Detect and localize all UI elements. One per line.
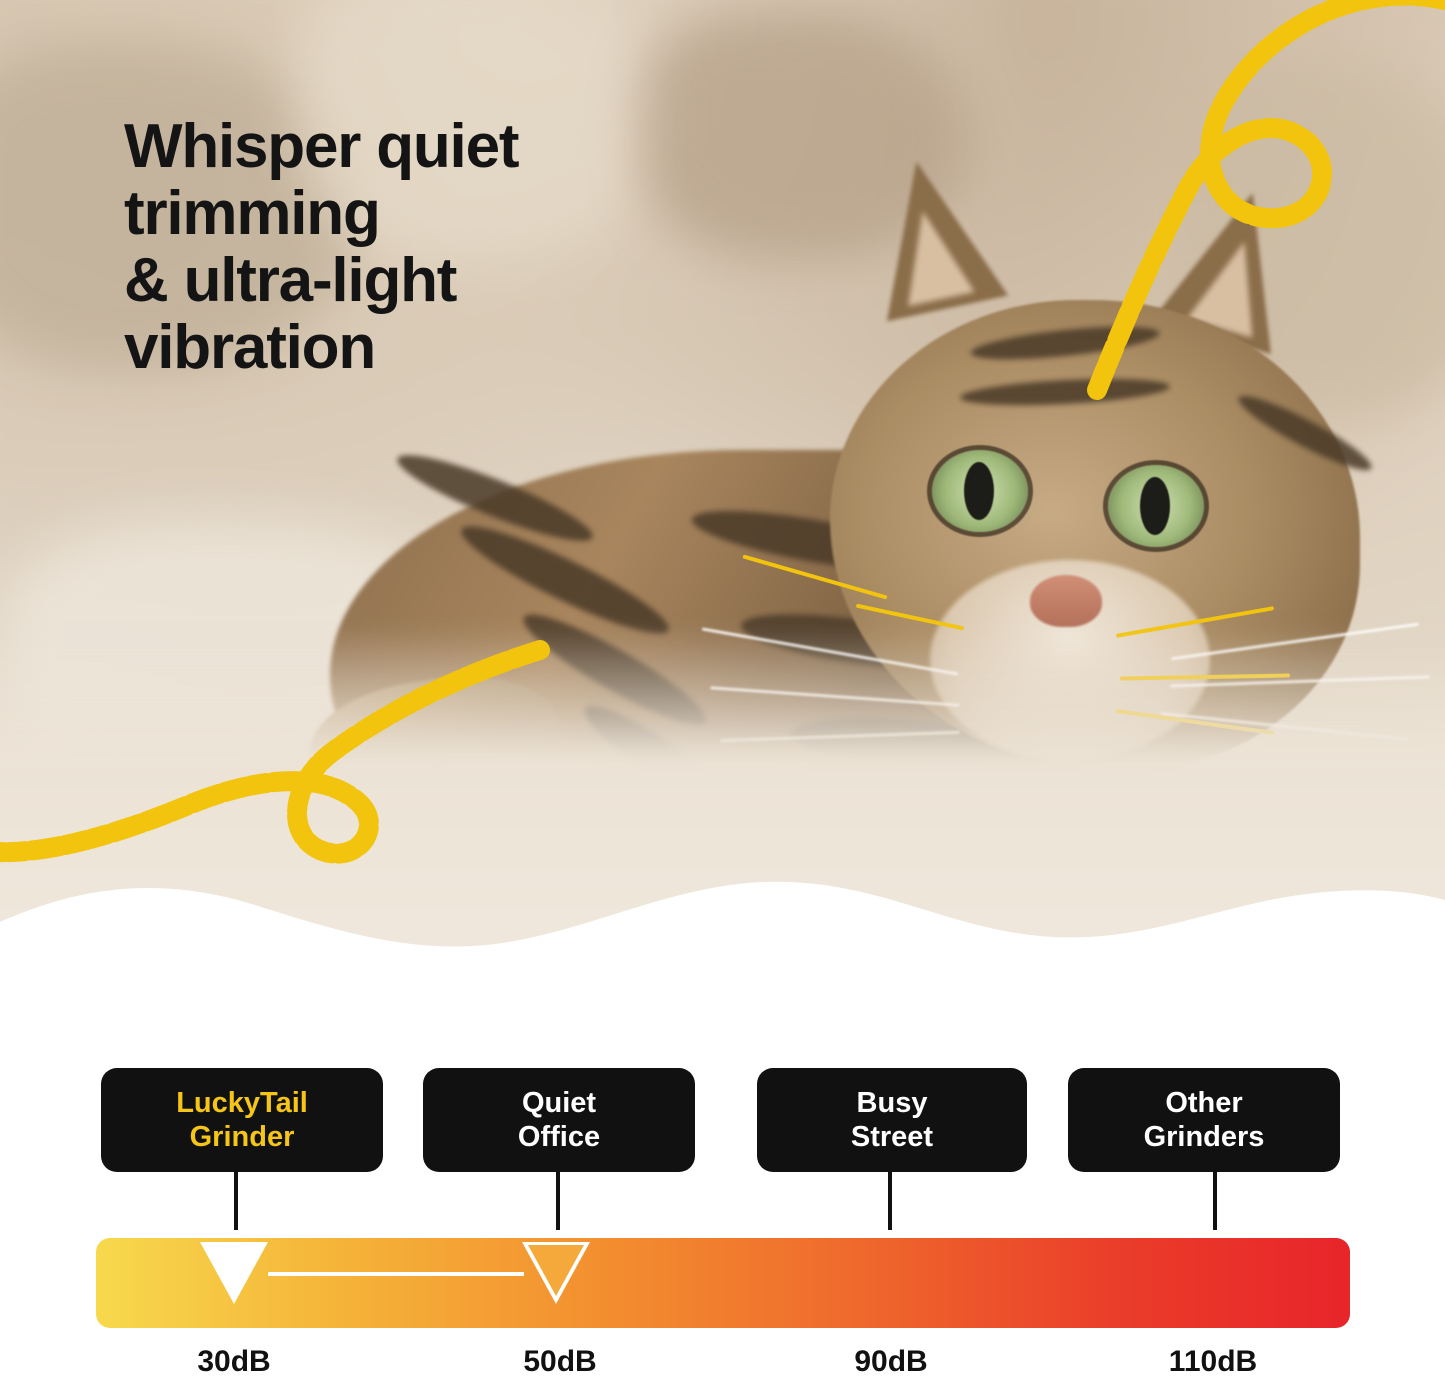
scale-chip-busy-street: Busy Street: [757, 1068, 1027, 1172]
scale-chip-other-grinders: Other Grinders: [1068, 1068, 1340, 1172]
scale-chip-quiet-office: Quiet Office: [423, 1068, 695, 1172]
scale-chip-luckytail: LuckyTail Grinder: [101, 1068, 383, 1172]
chip-stem: [888, 1172, 892, 1230]
tick-label-110db: 110dB: [1169, 1345, 1257, 1376]
chip-stem: [556, 1172, 560, 1230]
scale-labels: LuckyTail Grinder Quiet Office Busy Stre…: [0, 1038, 1445, 1148]
cat-eye-left: [932, 450, 1028, 532]
chip-stem: [1213, 1172, 1217, 1230]
promo-banner: Whisper quiet trimming & ultra-light vib…: [0, 0, 1445, 1376]
tick-label-90db: 90dB: [854, 1345, 927, 1376]
marker-quiet-office-triangle: [522, 1242, 590, 1304]
cat-pupil: [1140, 477, 1170, 535]
tick-label-30db: 30dB: [197, 1345, 270, 1376]
marker-luckytail-triangle: [200, 1242, 268, 1304]
page-title: Whisper quiet trimming & ultra-light vib…: [124, 114, 744, 382]
tick-label-50db: 50dB: [523, 1345, 596, 1376]
wave-divider: [0, 830, 1445, 1030]
hero-photo: Whisper quiet trimming & ultra-light vib…: [0, 0, 1445, 975]
cat-nose: [1030, 575, 1102, 627]
noise-gradient-bar: [96, 1238, 1350, 1328]
cat-pupil: [964, 462, 994, 520]
noise-scale-section: LuckyTail Grinder Quiet Office Busy Stre…: [0, 1010, 1445, 1376]
chip-stem: [234, 1172, 238, 1230]
cat-eye-right: [1108, 465, 1204, 547]
marker-connector-line: [268, 1272, 524, 1276]
